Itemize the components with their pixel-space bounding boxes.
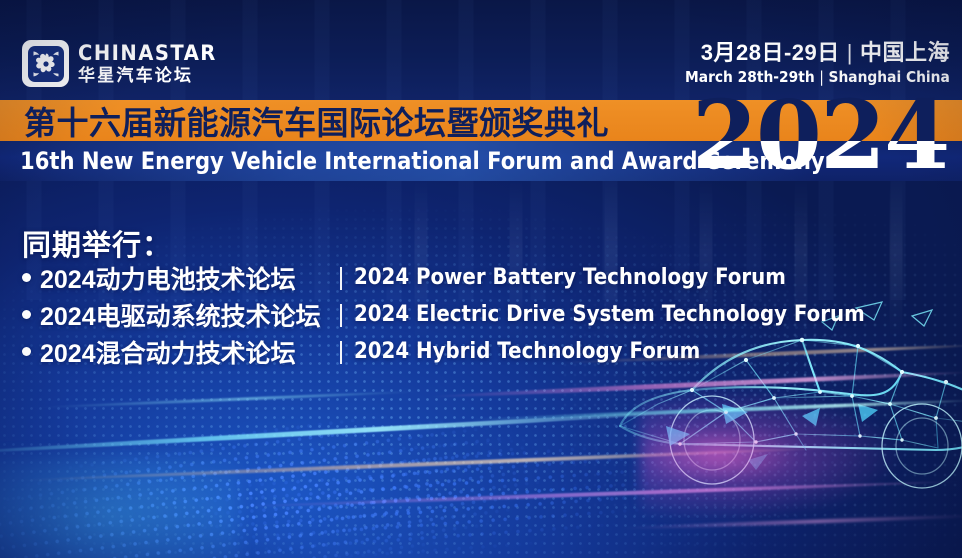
brand-logo-text: CHINASTAR 华星汽车论坛: [78, 42, 227, 86]
brand-logo[interactable]: CHINASTAR 华星汽车论坛: [22, 40, 227, 87]
list-item: 2024动力电池技术论坛 | 2024 Power Battery Techno…: [22, 262, 921, 293]
forum-separator: |: [328, 263, 354, 292]
concurrent-forum-list: 2024动力电池技术论坛 | 2024 Power Battery Techno…: [22, 262, 921, 367]
forum-name-cn: 2024电驱动系统技术论坛: [40, 297, 328, 333]
event-date-location: 3月28日-29日|中国上海 March 28th-29th|Shanghai …: [662, 40, 950, 86]
page-title-cn: 第十六届新能源汽车国际论坛暨颁奖典礼: [24, 100, 609, 141]
background-glow-cyan: [0, 455, 240, 558]
chinastar-flower-emblem-icon: [22, 40, 69, 87]
forum-separator: |: [328, 337, 354, 366]
brand-name-en: CHINASTAR: [78, 42, 217, 64]
date-location-cn: 3月28日-29日|中国上海: [662, 40, 950, 65]
forum-separator: |: [328, 300, 354, 329]
event-date-cn: 3月28日-29日: [701, 40, 840, 65]
bullet-dot-icon: [22, 347, 31, 356]
event-location-en: Shanghai China: [829, 68, 950, 86]
event-poster: CHINASTAR 华星汽车论坛 3月28日-29日|中国上海 March 28…: [0, 0, 962, 558]
concurrent-events-heading: 同期举行：: [22, 222, 172, 264]
date-separator-en: |: [815, 68, 829, 86]
event-date-en: March 28th-29th: [685, 68, 815, 86]
date-location-en: March 28th-29th|Shanghai China: [685, 68, 950, 86]
list-item: 2024混合动力技术论坛 | 2024 Hybrid Technology Fo…: [22, 336, 921, 367]
forum-name-en: 2024 Power Battery Technology Forum: [354, 265, 786, 290]
bullet-dot-icon: [22, 273, 31, 282]
forum-name-cn: 2024混合动力技术论坛: [40, 334, 328, 370]
date-separator-cn: |: [840, 40, 860, 65]
brand-name-cn: 华星汽车论坛: [78, 66, 227, 86]
forum-name-en: 2024 Hybrid Technology Forum: [354, 339, 700, 364]
page-title-en: 16th New Energy Vehicle International Fo…: [20, 141, 825, 181]
forum-name-cn: 2024动力电池技术论坛: [40, 260, 328, 296]
bullet-dot-icon: [22, 310, 31, 319]
event-location-cn: 中国上海: [860, 40, 950, 65]
list-item: 2024电驱动系统技术论坛 | 2024 Electric Drive Syst…: [22, 299, 921, 330]
forum-name-en: 2024 Electric Drive System Technology Fo…: [354, 302, 865, 327]
light-glow-pink: [640, 390, 900, 520]
